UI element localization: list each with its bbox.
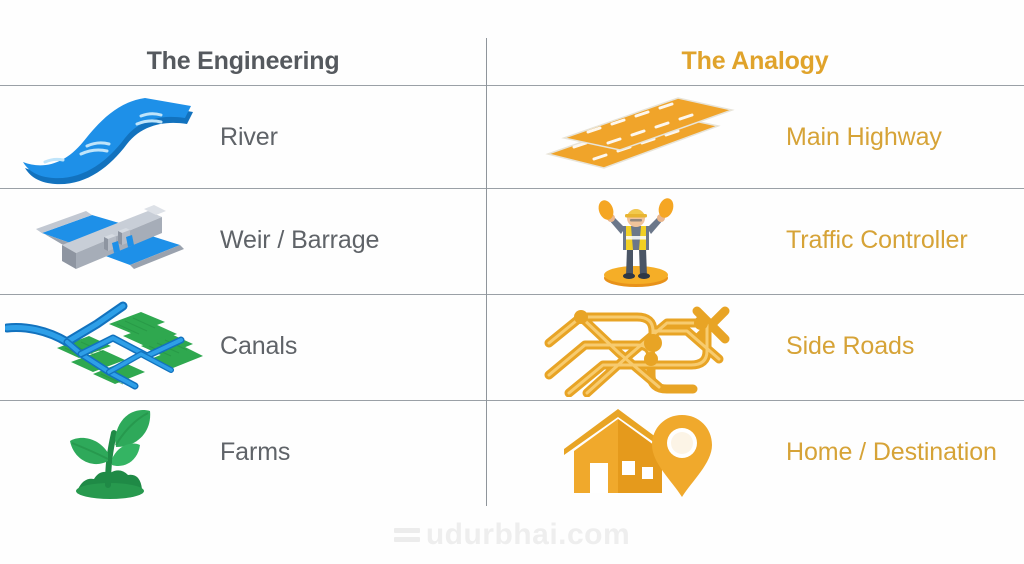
comparison-table: The Engineering The Analogy River [0, 0, 1024, 564]
hamburger-bars-logo-icon [394, 528, 420, 542]
traffic-controller-icon [486, 189, 786, 292]
canals-icon [0, 295, 220, 398]
cell-analogy-side-roads: Side Roads [486, 295, 1024, 398]
cell-analogy-traffic-controller: Traffic Controller [486, 189, 1024, 292]
row-label-engineering: Farms [220, 438, 290, 467]
table-row: Canals [0, 295, 1024, 398]
row-label-analogy: Main Highway [786, 123, 942, 152]
farms-icon [0, 401, 220, 504]
row-label-engineering: Weir / Barrage [220, 226, 379, 255]
weir-barrage-icon [0, 189, 220, 292]
header-analogy: The Analogy [486, 44, 1024, 78]
river-icon [0, 86, 220, 189]
row-label-engineering: Canals [220, 332, 297, 361]
watermark-text: udurbhai.com [426, 518, 630, 552]
row-label-analogy: Traffic Controller [786, 226, 968, 255]
cell-engineering-farms: Farms [0, 401, 486, 504]
row-label-analogy: Home / Destination [786, 438, 997, 467]
highway-icon [486, 86, 786, 189]
header-engineering: The Engineering [0, 44, 486, 78]
cell-engineering-weir: Weir / Barrage [0, 189, 486, 292]
side-roads-icon [486, 295, 786, 398]
table-row: Weir / Barrage [0, 189, 1024, 292]
home-destination-icon [486, 401, 786, 504]
row-label-engineering: River [220, 123, 278, 152]
cell-analogy-highway: Main Highway [486, 86, 1024, 189]
table-row: Farms [0, 401, 1024, 504]
cell-engineering-river: River [0, 86, 486, 189]
watermark: udurbhai.com [0, 505, 1024, 564]
row-label-analogy: Side Roads [786, 332, 914, 361]
cell-analogy-home-destination: Home / Destination [486, 401, 1024, 504]
table-header: The Engineering The Analogy [0, 0, 1024, 86]
table-row: River [0, 86, 1024, 189]
cell-engineering-canals: Canals [0, 295, 486, 398]
